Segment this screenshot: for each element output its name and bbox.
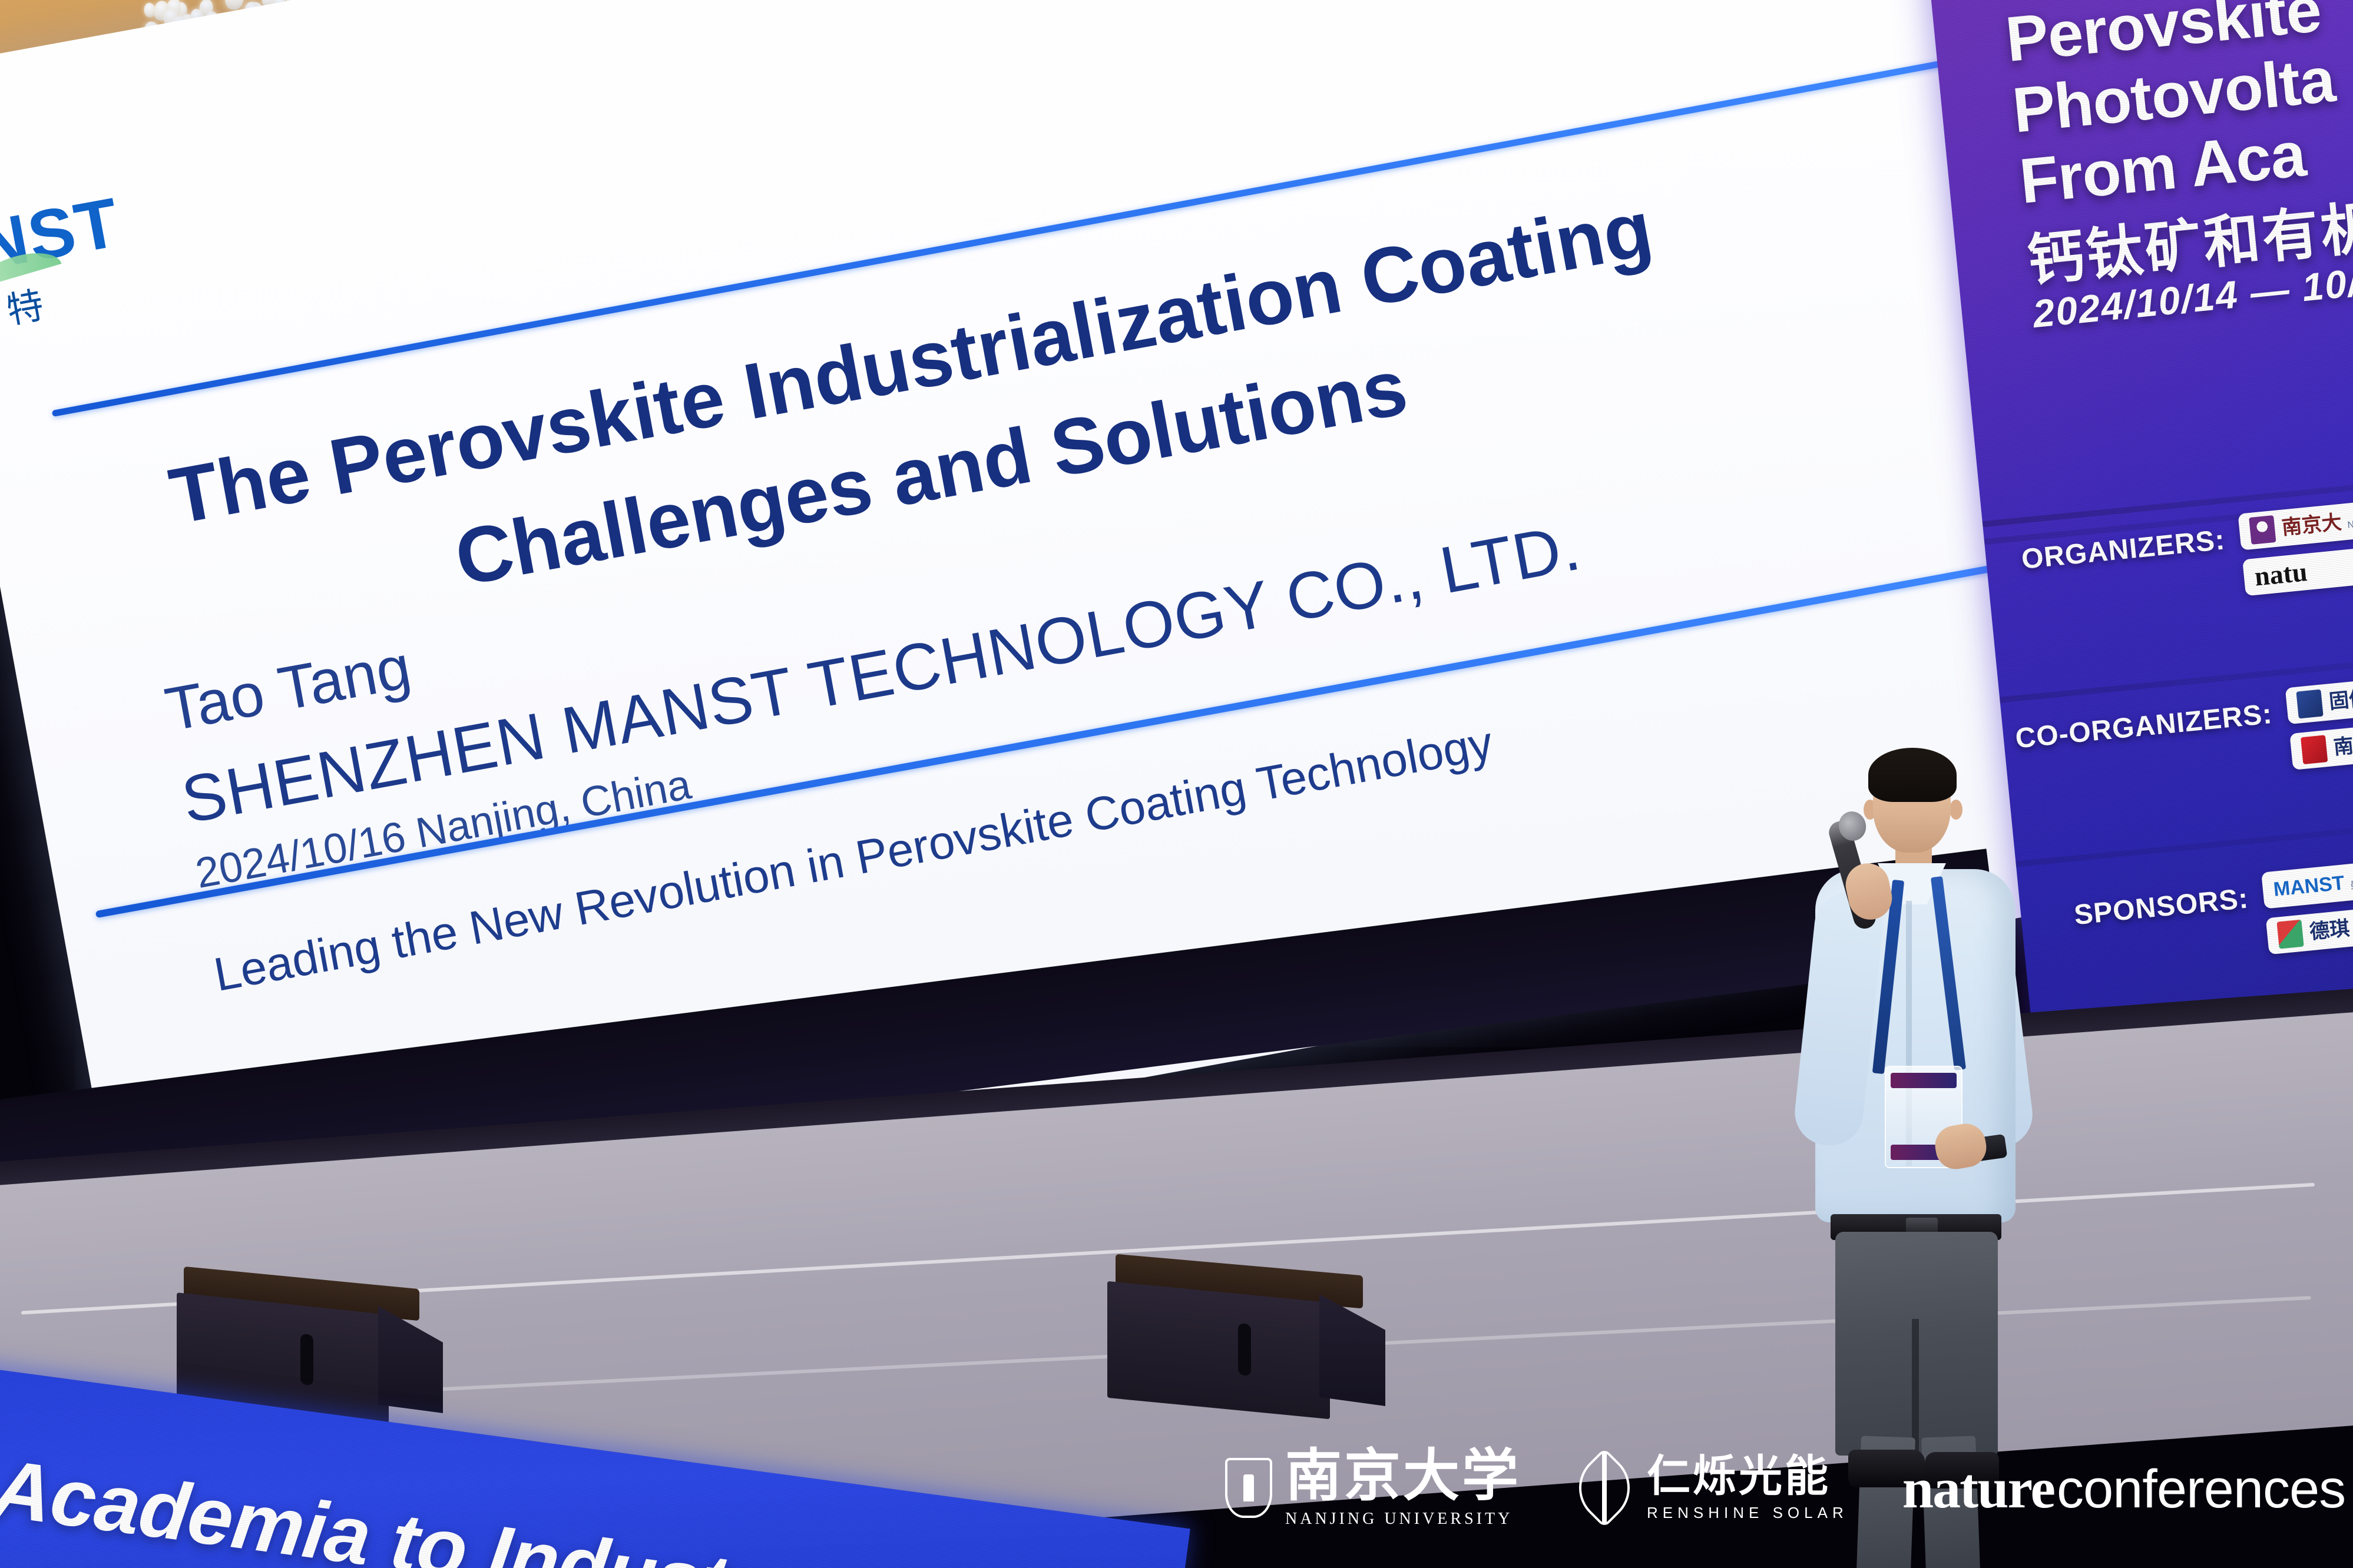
logo-nanjing-university: 南京大学 NANJING UNIVERSITY [1225, 1447, 1521, 1529]
chip-cn-0-1: natu [2253, 558, 2309, 591]
nju-crest-icon-floor [1225, 1458, 1272, 1518]
trouser-leg-split [1912, 1319, 1919, 1456]
logo-chip-national-lab: 固体微结 National Lab [2285, 669, 2353, 725]
chip-cn-1-1: 南京 [2332, 732, 2353, 759]
organizers-label: ORGANIZERS: [2019, 515, 2226, 576]
logo-chip-nature: natu [2242, 541, 2353, 596]
nju-english: NANJING UNIVERSITY [1285, 1510, 1521, 1529]
conference-stage-photo: MANST 曼恩斯特 The Perovskite Industrializat… [0, 0, 2353, 1568]
stage-monitor-right [1107, 1265, 1384, 1424]
logo-renshine-solar: 仁烁光能 RENSHINE SOLAR [1575, 1444, 1848, 1532]
co-organizers-label: CO-ORGANIZERS: [2013, 689, 2274, 755]
chip-sub-0-0: NANJING UNIV [2347, 513, 2353, 531]
chip-cn-0-0: 南京大 [2281, 510, 2342, 540]
chip-cn-1-0: 固体微结 [2328, 682, 2353, 714]
logo-nature-conferences: nature conferences [1902, 1456, 2345, 1521]
banner-section-co-organizers: CO-ORGANIZERS: 固体微结 National Lab 南京 Nanj… [2013, 669, 2353, 797]
nature-wordmark: nature [1902, 1456, 2054, 1521]
renshine-english: RENSHINE SOLAR [1647, 1504, 1848, 1522]
speaker-hair [1868, 748, 1957, 802]
sponsors-label: SPONSORS: [2072, 874, 2250, 931]
renshine-chinese: 仁烁光能 [1647, 1451, 1831, 1501]
renshine-mark-icon [1575, 1444, 1634, 1532]
logo-chip-deqi-precision: 德琪 PRECISION [2266, 899, 2353, 954]
banner-section-sponsors: SPONSORS: MANST 曼恩斯特 德琪 PRECISION [2072, 854, 2353, 973]
ctp-icon [2301, 735, 2328, 764]
nju-chinese: 南京大学 [1285, 1443, 1521, 1509]
chip-cn-2-1: 德琪 [2309, 917, 2351, 944]
logo-chip-manst: MANST 曼恩斯特 [2261, 854, 2353, 909]
manst-logo: MANST 曼恩斯特 [0, 167, 246, 357]
speaker-ear-right [1950, 800, 1963, 820]
chip-cn-2-0: MANST [2272, 871, 2345, 901]
chip-sub-2-0: 曼恩斯特 [2350, 877, 2353, 891]
nju-crest-icon [2249, 515, 2276, 545]
banner-title: Perovskite Photovolta From Aca [2003, 0, 2353, 217]
logo-chip-nanjing-university: 南京大 NANJING UNIV [2238, 495, 2353, 551]
national-lab-icon [2296, 689, 2323, 719]
conferences-wordmark: conferences [2057, 1458, 2345, 1520]
floor-logo-strip: 南京大学 NANJING UNIVERSITY 仁烁光能 RENSHINE SO… [1225, 1444, 2345, 1532]
speaker-presenter [1802, 754, 2026, 1478]
flame-icon [2276, 920, 2304, 949]
